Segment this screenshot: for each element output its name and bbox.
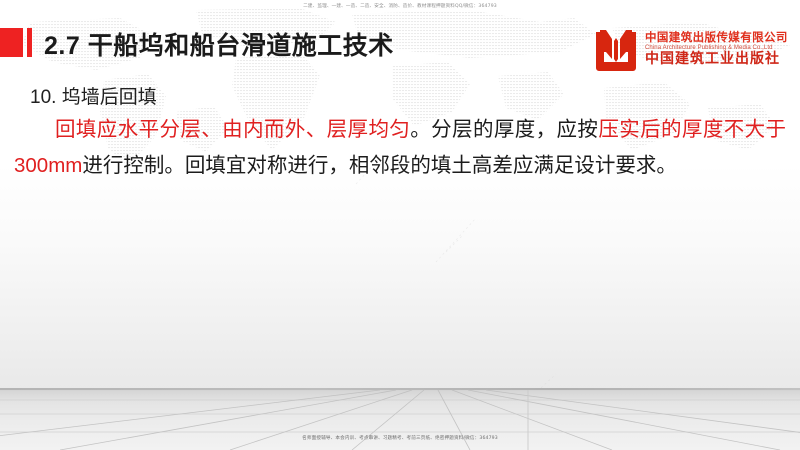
open-book-logo-icon xyxy=(594,29,638,71)
paragraph-segment-4: 进行控制。回填宜对称进行，相邻段的填土高差应满足设计要求。 xyxy=(82,154,677,177)
section-sub-heading: 10. 坞墙后回填 xyxy=(30,82,157,109)
logo-company-name-en: China Architecture Publishing & Media Co… xyxy=(645,45,788,51)
logo-press-name-cn: 中国建筑工业出版社 xyxy=(645,53,788,68)
body-paragraph: 回填应水平分层、由内而外、层厚均匀。分层的厚度，应按压实后的厚度不大于300mm… xyxy=(14,112,786,184)
paragraph-segment-1: 回填应水平分层、由内而外、层厚均匀 xyxy=(55,118,410,141)
watermark-bottom: 名师面授辅导、本会内训、考点串讲、习题精考、考前三页纸、绝密押题资料/微信：36… xyxy=(0,435,800,441)
page-title: 2.7 干船坞和船台滑道施工技术 xyxy=(44,26,394,62)
publisher-logo: 中国建筑出版传媒有限公司 China Architecture Publishi… xyxy=(594,26,794,74)
title-accent-block xyxy=(0,28,23,57)
title-accent-bar xyxy=(27,28,32,57)
watermark-top: 二建、监理、一建、一造、二造、安全、消防、造价、教材课程押题资料QQ/微信：36… xyxy=(0,3,800,9)
logo-company-name-cn: 中国建筑出版传媒有限公司 xyxy=(645,32,788,44)
presentation-slide: 2.7 干船坞和船台滑道施工技术 中国建筑出版传媒有限公司 China Arch… xyxy=(0,0,800,450)
paragraph-segment-2: 。分层的厚度，应按 xyxy=(410,118,598,141)
